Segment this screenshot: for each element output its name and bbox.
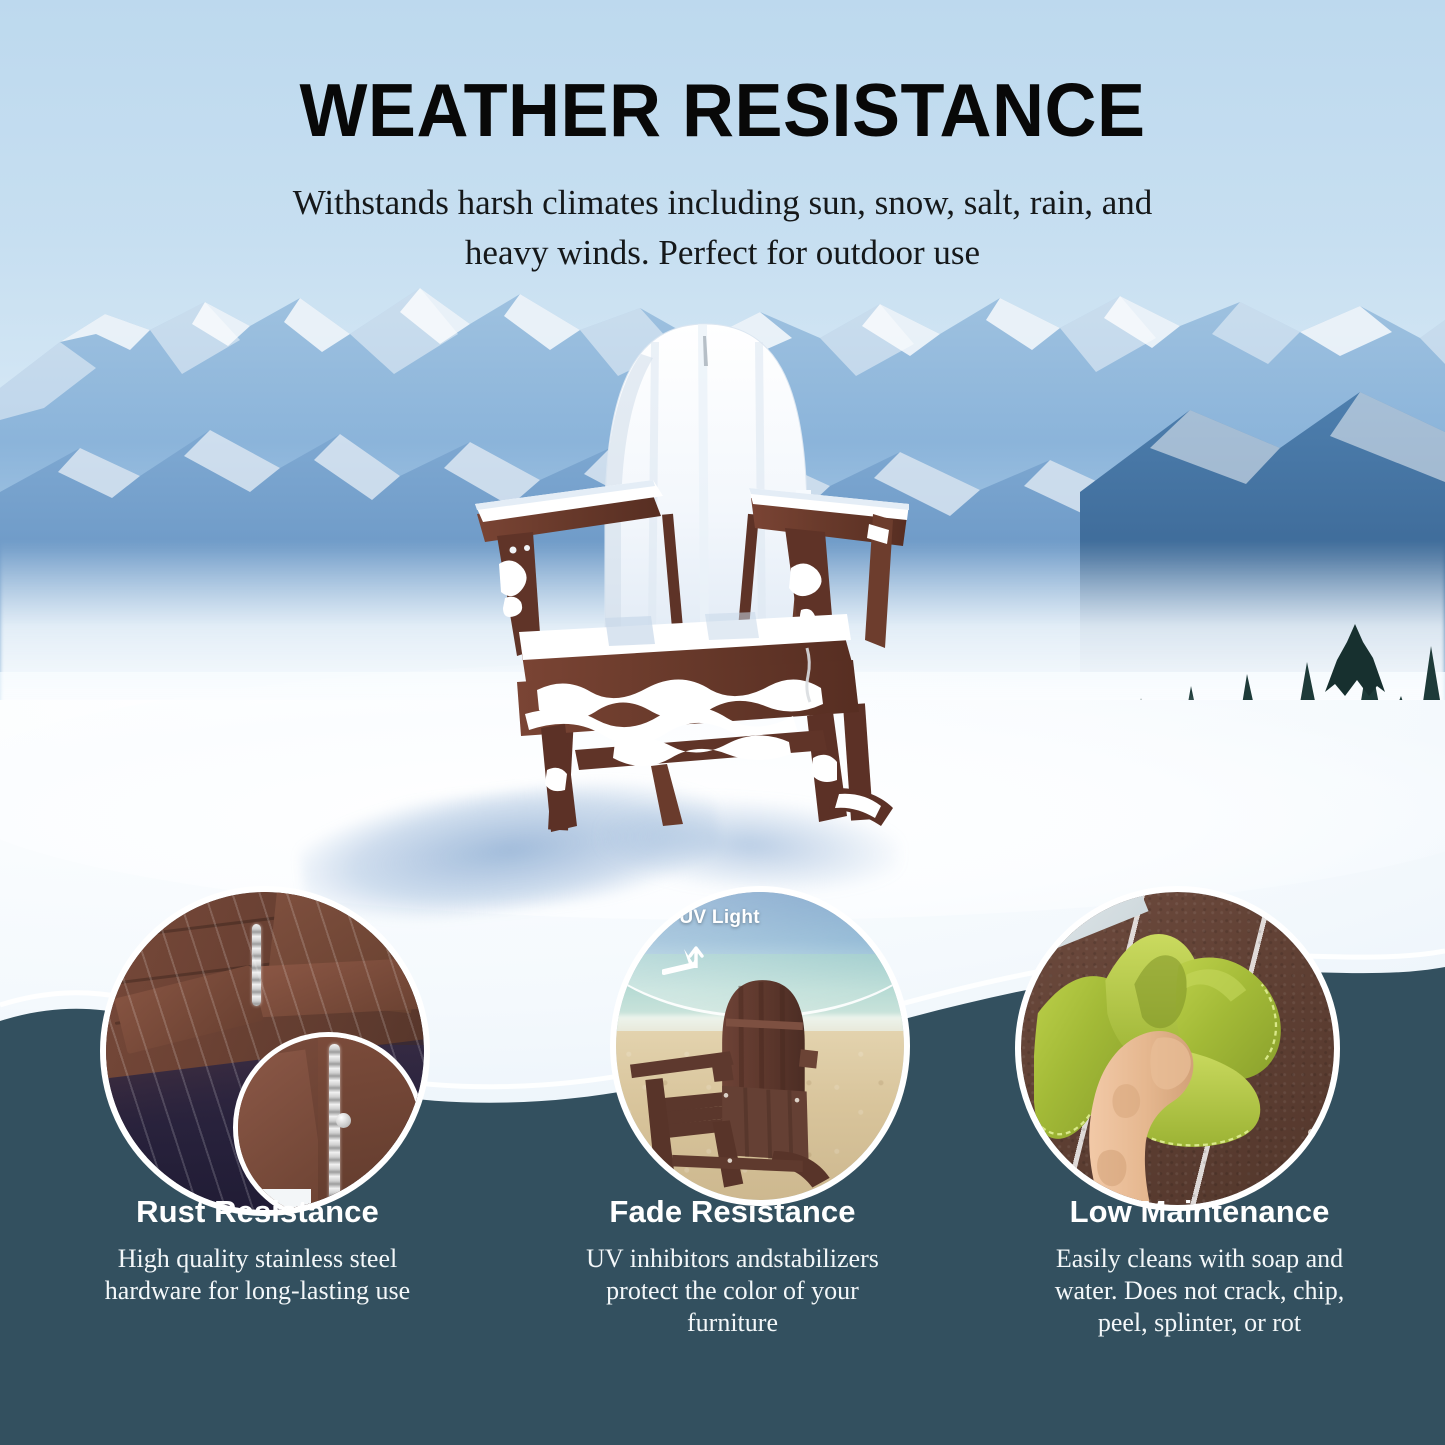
feature-title: Fade Resistance (509, 1195, 956, 1229)
fade-resistance-image: UV Light (610, 886, 910, 1206)
low-maintenance-image (1015, 886, 1340, 1211)
page-title: WEATHER RESISTANCE (29, 0, 1416, 148)
feature-body: High quality stainless steel hardware fo… (93, 1243, 423, 1306)
feature-caption-row: Rust Resistance High quality stainless s… (0, 1195, 1445, 1445)
feature-fade-resistance: Fade Resistance UV inhibitors andstabili… (495, 1195, 962, 1338)
feature-body: Easily cleans with soap and water. Does … (1035, 1243, 1365, 1338)
feature-title: Rust Resistance (34, 1195, 481, 1229)
page-subtitle: Withstands harsh climates including sun,… (253, 178, 1193, 277)
feature-low-maintenance: Low Maintenance Easily cleans with soap … (962, 1195, 1445, 1338)
uv-arrow-icon (662, 944, 724, 986)
weather-resistance-poster: UV Light (0, 0, 1445, 1445)
rust-inset-zoom (233, 1032, 424, 1210)
poster-header: WEATHER RESISTANCE Withstands harsh clim… (0, 0, 1445, 277)
beach-adirondack-chair (630, 972, 895, 1194)
uv-light-label: UV Light (679, 907, 760, 929)
feature-body: UV inhibitors andstabilizers protect the… (568, 1243, 898, 1338)
feature-title: Low Maintenance (976, 1195, 1423, 1229)
hand (1065, 998, 1209, 1205)
rust-resistance-image (100, 886, 430, 1216)
feature-rust-resistance: Rust Resistance High quality stainless s… (0, 1195, 495, 1307)
